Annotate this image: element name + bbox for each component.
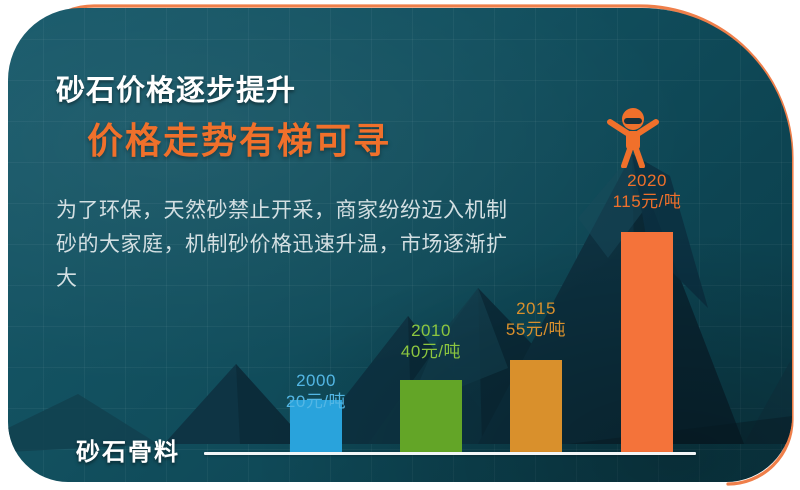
bar-label-2000: 2000 20元/吨 xyxy=(266,370,366,412)
bar-label-2020: 2020 115元/吨 xyxy=(597,170,697,212)
bar-label-2010: 2010 40元/吨 xyxy=(381,320,481,362)
bar-2020[interactable] xyxy=(621,232,673,452)
bar-label-2015-year: 2015 xyxy=(486,298,586,319)
bar-label-2015: 2015 55元/吨 xyxy=(486,298,586,340)
bar-label-2015-value: 55元/吨 xyxy=(486,319,586,340)
bar-label-2010-value: 40元/吨 xyxy=(381,341,481,362)
bar-label-2020-value: 115元/吨 xyxy=(597,191,697,212)
infographic-canvas: 砂石价格逐步提升 价格走势有梯可寻 为了环保，天然砂禁止开采，商家纷纷迈入机制砂… xyxy=(0,0,800,490)
bar-chart: 2000 20元/吨 2010 40元/吨 2015 55元/吨 2020 11… xyxy=(8,8,792,482)
bar-label-2000-year: 2000 xyxy=(266,370,366,391)
main-card: 砂石价格逐步提升 价格走势有梯可寻 为了环保，天然砂禁止开采，商家纷纷迈入机制砂… xyxy=(8,8,792,482)
chart-baseline xyxy=(204,452,696,455)
bar-label-2000-value: 20元/吨 xyxy=(266,391,366,412)
bar-label-2020-year: 2020 xyxy=(597,170,697,191)
bar-2010[interactable] xyxy=(400,380,462,452)
bar-label-2010-year: 2010 xyxy=(381,320,481,341)
bar-2015[interactable] xyxy=(510,360,562,452)
